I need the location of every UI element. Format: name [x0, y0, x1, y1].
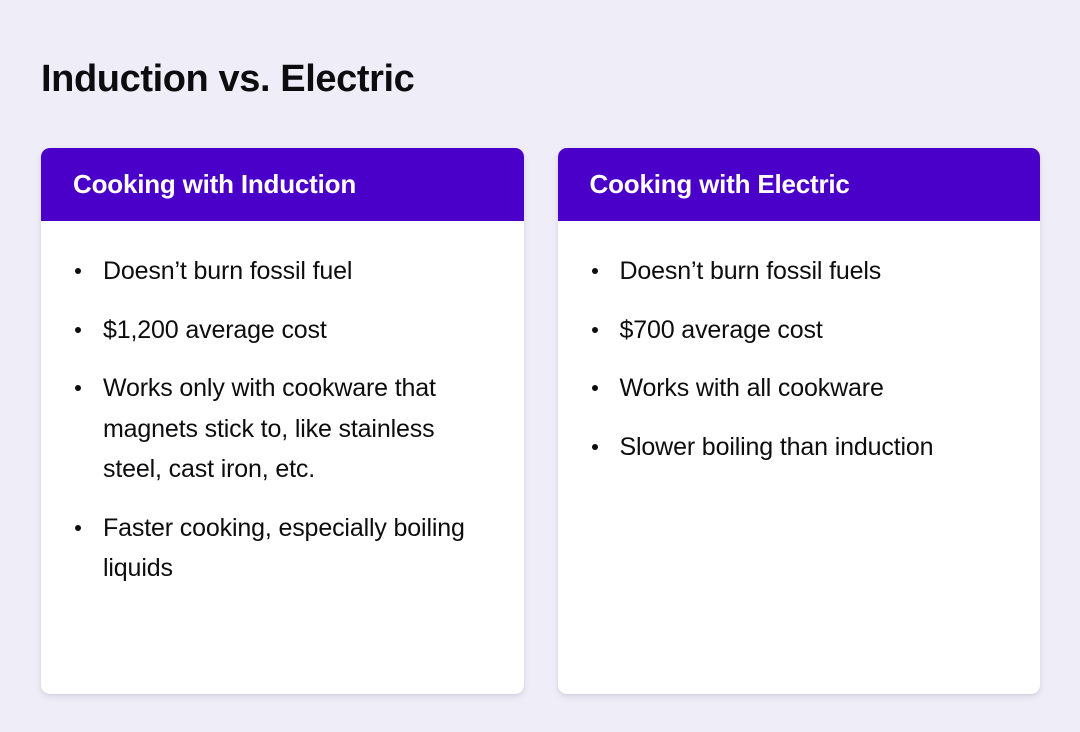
list-item-text: $1,200 average cost: [103, 310, 498, 351]
card-electric: Cooking with Electric Doesn’t burn fossi…: [558, 148, 1041, 694]
list-item-text: Works only with cookware that magnets st…: [103, 368, 498, 490]
list-item-text: Works with all cookware: [620, 368, 950, 409]
card-header-title: Cooking with Electric: [590, 170, 850, 199]
card-body-electric: Doesn’t burn fossil fuels $700 average c…: [558, 221, 1041, 694]
comparison-cards-row: Cooking with Induction Doesn’t burn foss…: [41, 148, 1040, 694]
list-item: Doesn’t burn fossil fuels: [588, 251, 1015, 292]
bullet-list-induction: Doesn’t burn fossil fuel $1,200 average …: [71, 251, 498, 589]
list-item: $1,200 average cost: [71, 310, 498, 351]
list-item-text: Doesn’t burn fossil fuels: [620, 251, 950, 292]
list-item-text: Slower boiling than induction: [620, 427, 950, 468]
card-body-induction: Doesn’t burn fossil fuel $1,200 average …: [41, 221, 524, 694]
list-item: Works with all cookware: [588, 368, 1015, 409]
list-item: Slower boiling than induction: [588, 427, 1015, 468]
bullet-dot-icon: [75, 525, 81, 531]
list-item: Faster cooking, especially boiling liqui…: [71, 508, 498, 589]
list-item: Works only with cookware that magnets st…: [71, 368, 498, 490]
list-item: Doesn’t burn fossil fuel: [71, 251, 498, 292]
bullet-dot-icon: [75, 268, 81, 274]
list-item-text: Doesn’t burn fossil fuel: [103, 251, 498, 292]
list-item-text: $700 average cost: [620, 310, 950, 351]
bullet-dot-icon: [75, 327, 81, 333]
bullet-dot-icon: [592, 268, 598, 274]
bullet-dot-icon: [592, 385, 598, 391]
card-header-title: Cooking with Induction: [73, 170, 356, 199]
card-header-induction: Cooking with Induction: [41, 148, 524, 221]
bullet-dot-icon: [592, 444, 598, 450]
comparison-infographic: Induction vs. Electric Cooking with Indu…: [0, 0, 1080, 732]
page-title: Induction vs. Electric: [41, 58, 414, 102]
bullet-dot-icon: [75, 385, 81, 391]
card-header-electric: Cooking with Electric: [558, 148, 1041, 221]
bullet-dot-icon: [592, 327, 598, 333]
list-item: $700 average cost: [588, 310, 1015, 351]
bullet-list-electric: Doesn’t burn fossil fuels $700 average c…: [588, 251, 1015, 467]
list-item-text: Faster cooking, especially boiling liqui…: [103, 508, 498, 589]
card-induction: Cooking with Induction Doesn’t burn foss…: [41, 148, 524, 694]
